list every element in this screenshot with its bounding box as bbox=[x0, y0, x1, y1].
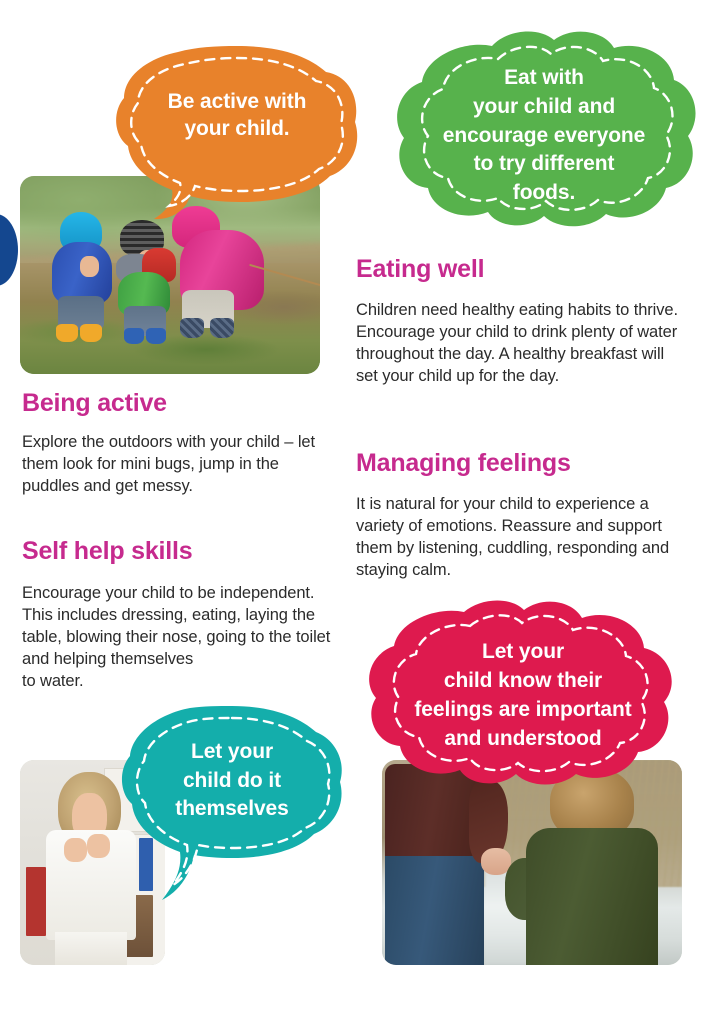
heading-self-help-skills: Self help skills bbox=[22, 538, 192, 564]
body-self-help-skills: Encourage your child to be independent. … bbox=[22, 583, 332, 693]
body-eating-well: Children need healthy eating habits to t… bbox=[356, 300, 686, 388]
leaflet-page: Being active Explore the outdoors with y… bbox=[0, 0, 714, 1023]
bubble-feelings-important: Let your child know their feelings are i… bbox=[358, 596, 688, 786]
body-managing-feelings: It is natural for your child to experien… bbox=[356, 494, 690, 582]
child-jumper bbox=[526, 828, 658, 965]
bubble-be-active-text: Be active with your child. bbox=[112, 88, 362, 143]
yellow-boot-right bbox=[80, 324, 102, 342]
red-item-left bbox=[26, 867, 46, 937]
heading-being-active: Being active bbox=[22, 390, 167, 416]
child-pink bbox=[160, 206, 268, 348]
bubble-eat-with-child: Eat with your child and encourage everyo… bbox=[388, 26, 700, 231]
bubble-be-active: Be active with your child. bbox=[112, 42, 362, 222]
body-being-active: Explore the outdoors with your child – l… bbox=[22, 432, 326, 498]
photo-adult-and-child bbox=[382, 760, 682, 965]
child-blue bbox=[50, 212, 116, 340]
heading-managing-feelings: Managing feelings bbox=[356, 450, 571, 476]
child-face bbox=[80, 256, 99, 277]
partial-logo-badge bbox=[0, 214, 18, 286]
bubble-eat-with-child-text: Eat with your child and encourage everyo… bbox=[388, 64, 700, 208]
yellow-boot-left bbox=[56, 324, 78, 342]
blue-boot-left bbox=[124, 328, 144, 344]
girl-hand-right bbox=[87, 834, 110, 859]
girl-hand-left bbox=[64, 838, 87, 863]
patterned-boot-right bbox=[210, 318, 234, 338]
bubble-let-child-do-it: Let your child do it themselves bbox=[118, 700, 346, 905]
bubble-let-child-do-it-text: Let your child do it themselves bbox=[118, 738, 346, 824]
heading-eating-well: Eating well bbox=[356, 256, 484, 282]
girl-white-trousers bbox=[55, 932, 128, 965]
patterned-boot-left bbox=[180, 318, 204, 338]
bubble-feelings-important-text: Let your child know their feelings are i… bbox=[358, 638, 688, 754]
adult-jeans bbox=[385, 856, 484, 965]
